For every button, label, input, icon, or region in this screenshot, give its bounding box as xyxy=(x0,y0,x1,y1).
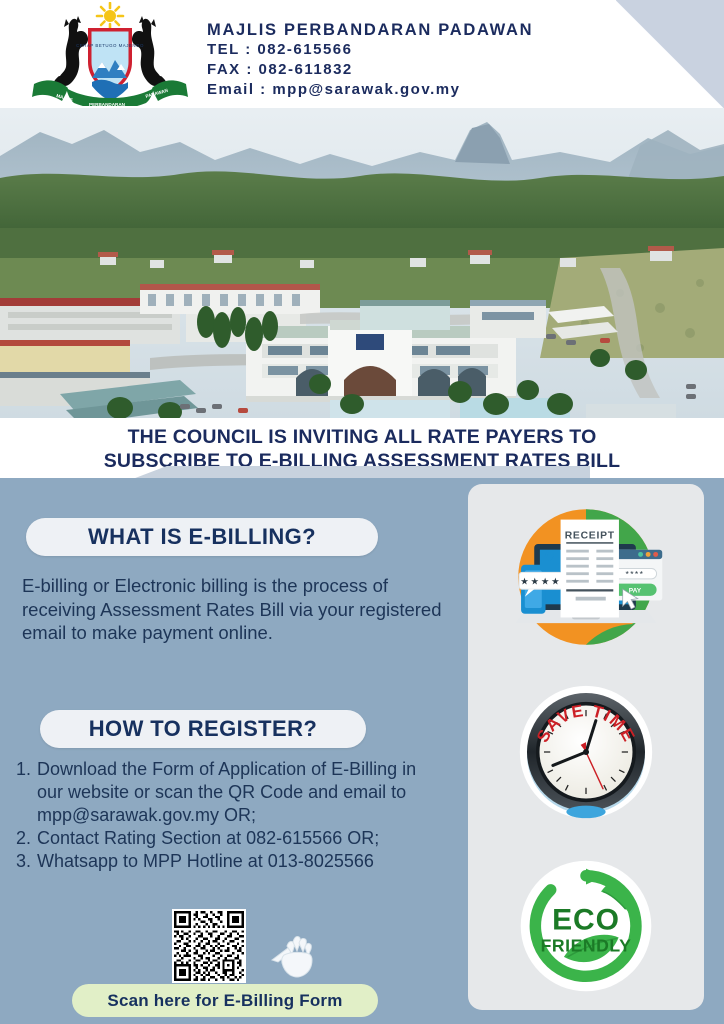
telephone-line: TEL : 082-615566 xyxy=(207,40,533,60)
step-number: 1. xyxy=(16,758,37,781)
step-text: Contact Rating Section at 082-615566 OR; xyxy=(37,827,446,850)
svg-text:★★★★: ★★★★ xyxy=(520,576,561,587)
step-number: 3. xyxy=(16,850,37,873)
town-aerial-photo xyxy=(0,108,724,418)
qr-code[interactable] xyxy=(172,909,246,983)
section-heading-how-to-register: HOW TO REGISTER? xyxy=(40,710,366,748)
section-heading-what-is-ebilling: WHAT IS E-BILLING? xyxy=(26,518,378,556)
list-item: 2. Contact Rating Section at 082-615566 … xyxy=(16,827,446,850)
step-text: Whatsapp to MPP Hotline at 013-8025566 xyxy=(37,850,446,873)
eco-label-top: ECO xyxy=(552,904,620,937)
mpp-coat-of-arms-logo: CERAP BETUGO MAJENGO MAJLIS PERBANDARAN … xyxy=(26,2,194,106)
scan-here-button[interactable]: Scan here for E-Billing Form xyxy=(72,984,378,1017)
list-item: 3. Whatsapp to MPP Hotline at 013-802556… xyxy=(16,850,446,873)
svg-text:CERAP BETUGO MAJENGO: CERAP BETUGO MAJENGO xyxy=(76,43,144,48)
registration-steps-list: 1. Download the Form of Application of E… xyxy=(16,758,446,873)
step-number: 2. xyxy=(16,827,37,850)
what-is-ebilling-label: WHAT IS E-BILLING? xyxy=(88,524,316,550)
receipt-label: RECEIPT xyxy=(565,530,615,541)
pointing-hand-icon xyxy=(268,930,316,980)
save-time-clock-illustration: SAVE TIME xyxy=(468,666,704,838)
eco-friendly-badge-illustration: ECO FRIENDLY xyxy=(468,842,704,1010)
organisation-name: MAJLIS PERBANDARAN PADAWAN xyxy=(207,20,533,40)
list-item: 1. Download the Form of Application of E… xyxy=(16,758,446,827)
fax-line: FAX : 082-611832 xyxy=(207,60,533,80)
poster-root: CERAP BETUGO MAJENGO MAJLIS PERBANDARAN … xyxy=(0,0,724,1024)
receipt-online-payment-illustration: **** PAY ★★★★ RECEIPT xyxy=(468,492,704,662)
corner-triangle-decoration xyxy=(616,0,724,108)
pin-dots: **** xyxy=(626,569,645,579)
pay-label: PAY xyxy=(629,588,642,595)
organisation-details: MAJLIS PERBANDARAN PADAWAN TEL : 082-615… xyxy=(207,20,533,100)
what-is-ebilling-paragraph: E-billing or Electronic billing is the p… xyxy=(22,574,446,645)
step-text: Download the Form of Application of E-Bi… xyxy=(37,758,446,827)
illustration-card: **** PAY ★★★★ RECEIPT xyxy=(468,484,704,1010)
page-header: CERAP BETUGO MAJENGO MAJLIS PERBANDARAN … xyxy=(0,0,724,108)
svg-text:PERBANDARAN: PERBANDARAN xyxy=(89,102,126,106)
how-to-register-label: HOW TO REGISTER? xyxy=(89,716,317,742)
scan-here-label: Scan here for E-Billing Form xyxy=(107,991,342,1011)
email-line: Email : mpp@sarawak.gov.my xyxy=(207,80,533,100)
headline-line-1: THE COUNCIL IS INVITING ALL RATE PAYERS … xyxy=(104,425,621,449)
eco-label-bottom: FRIENDLY xyxy=(541,936,632,956)
